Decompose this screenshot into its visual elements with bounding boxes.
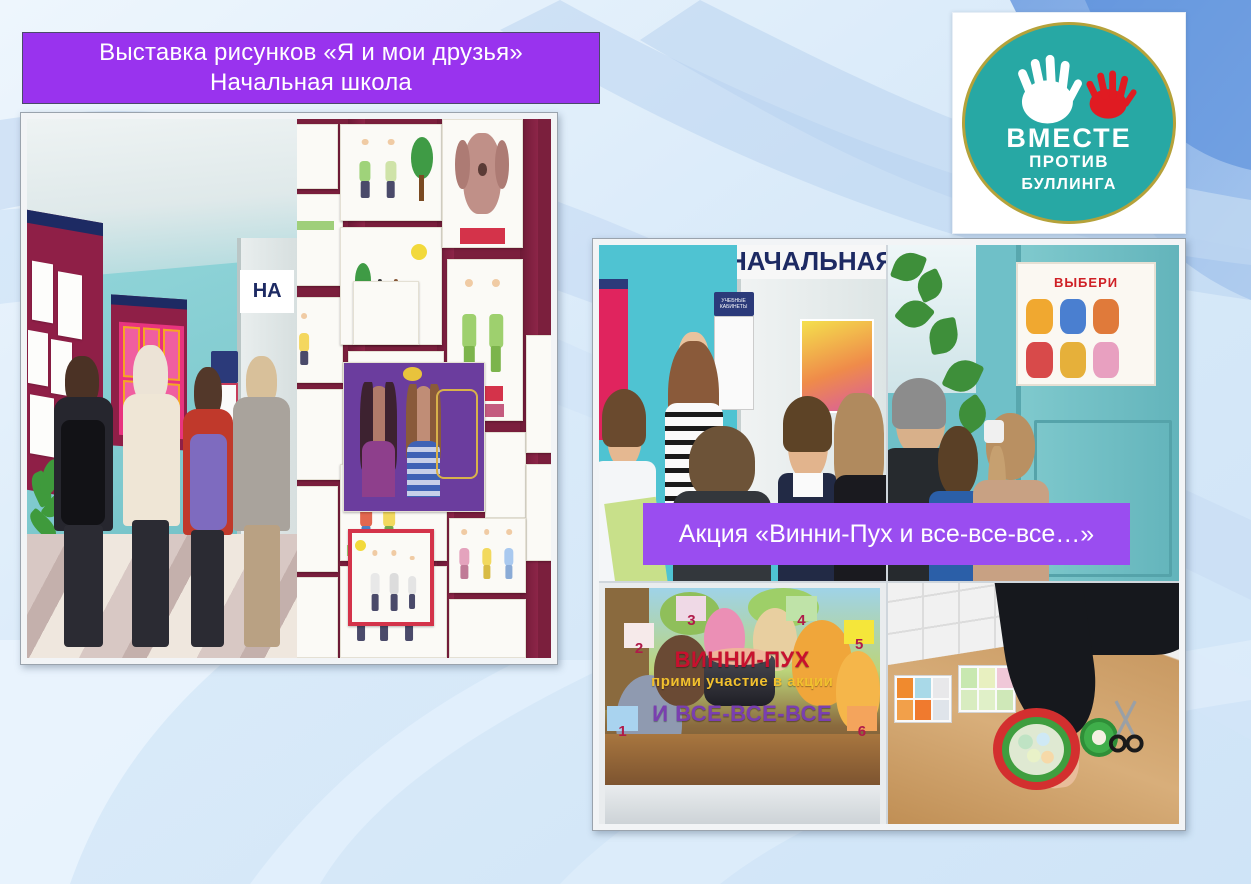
hallway-sign-na: НА bbox=[240, 270, 294, 313]
red-handprint-icon bbox=[1085, 70, 1137, 118]
child-drawing bbox=[297, 577, 338, 658]
vyberi-poster: ВЫБЕРИ bbox=[1016, 262, 1155, 386]
child-drawing-dog bbox=[442, 119, 523, 248]
poster-number-2: 2 bbox=[624, 623, 654, 648]
title-line-1: Выставка рисунков «Я и мои друзья» bbox=[99, 38, 523, 68]
bowl-inner bbox=[1002, 717, 1072, 783]
vyberi-poster-row-2 bbox=[1026, 342, 1145, 378]
child-drawing bbox=[297, 389, 343, 481]
white-handprint-icon bbox=[1017, 54, 1084, 123]
child-drawing bbox=[340, 124, 442, 221]
student-figure bbox=[119, 345, 184, 647]
logo-text-line-1: ВМЕСТЕ bbox=[965, 123, 1173, 154]
student-figure bbox=[49, 356, 119, 647]
table-with-food bbox=[605, 734, 880, 785]
hallway-scene: НА bbox=[27, 119, 297, 658]
child-drawing bbox=[348, 529, 434, 626]
poster-text-line-3: И ВСЕ-ВСЕ-ВСЕ bbox=[605, 701, 880, 727]
corridor-sign-nachalnaya: НАЧАЛЬНАЯ bbox=[737, 245, 886, 279]
handprints-icon bbox=[965, 49, 1173, 127]
poster-number-5: 5 bbox=[844, 620, 874, 645]
poster-text-line-2: прими участие в акции bbox=[605, 673, 880, 690]
child-drawing-two-girls bbox=[343, 362, 485, 513]
wooden-table bbox=[888, 583, 1179, 824]
child-drawing bbox=[297, 124, 338, 189]
vyberi-poster-row-1 bbox=[1026, 299, 1145, 335]
corridor-sign-kabinety: УЧЕБНЫЕ КАБИНЕТЫ bbox=[714, 292, 754, 316]
poster-number-1: 1 bbox=[607, 706, 637, 731]
child-drawing bbox=[526, 464, 551, 561]
poster-shelf bbox=[605, 785, 880, 824]
scissors-icon bbox=[1103, 696, 1149, 754]
paper-tray-left bbox=[894, 675, 952, 723]
action-caption-text: Акция «Винни-Пух и все-все-все…» bbox=[679, 520, 1094, 549]
student-figure bbox=[229, 356, 294, 647]
child-drawing bbox=[526, 335, 551, 454]
logo-text-line-2: ПРОТИВ bbox=[965, 152, 1173, 172]
winnie-poster-photo: ВИННИ-ПУХ прими участие в акции И ВСЕ-ВС… bbox=[599, 583, 886, 824]
anti-bullying-logo: ВМЕСТЕ ПРОТИВ БУЛЛИНГА bbox=[952, 12, 1186, 234]
exhibition-photo-collage: НА bbox=[20, 112, 558, 665]
poster-number-4: 4 bbox=[786, 596, 816, 621]
drawings-wall-photo bbox=[297, 119, 551, 658]
drawings-board bbox=[297, 119, 551, 658]
bowl-paper-slips bbox=[1009, 724, 1063, 775]
poster-text-line-1: ВИННИ-ПУХ bbox=[605, 647, 880, 673]
action-caption-banner: Акция «Винни-Пух и все-все-все…» bbox=[643, 503, 1130, 565]
child-drawing bbox=[297, 297, 343, 383]
winnie-the-pooh-poster: ВИННИ-ПУХ прими участие в акции И ВСЕ-ВС… bbox=[605, 588, 880, 786]
slide-title-banner: Выставка рисунков «Я и мои друзья» Начал… bbox=[22, 32, 600, 104]
hallway-photo: НА bbox=[27, 119, 297, 658]
paper-slips-bowl bbox=[993, 708, 1080, 790]
child-drawing bbox=[297, 486, 338, 572]
child-drawing bbox=[449, 599, 525, 658]
poster-number-6: 6 bbox=[847, 706, 877, 731]
child-drawing bbox=[449, 518, 525, 593]
child-drawing bbox=[297, 194, 343, 286]
logo-circle: ВМЕСТЕ ПРОТИВ БУЛЛИНГА bbox=[962, 22, 1176, 224]
left-photo-inner: НА bbox=[27, 119, 551, 658]
logo-text-line-3: БУЛЛИНГА bbox=[965, 176, 1173, 194]
child-drawing bbox=[485, 432, 526, 518]
vyberi-poster-title: ВЫБЕРИ bbox=[1054, 275, 1118, 290]
title-line-2: Начальная школа bbox=[210, 68, 412, 98]
poster-number-3: 3 bbox=[676, 596, 706, 621]
child-drawing bbox=[353, 281, 419, 346]
paper-slips-activity-photo bbox=[888, 583, 1179, 824]
